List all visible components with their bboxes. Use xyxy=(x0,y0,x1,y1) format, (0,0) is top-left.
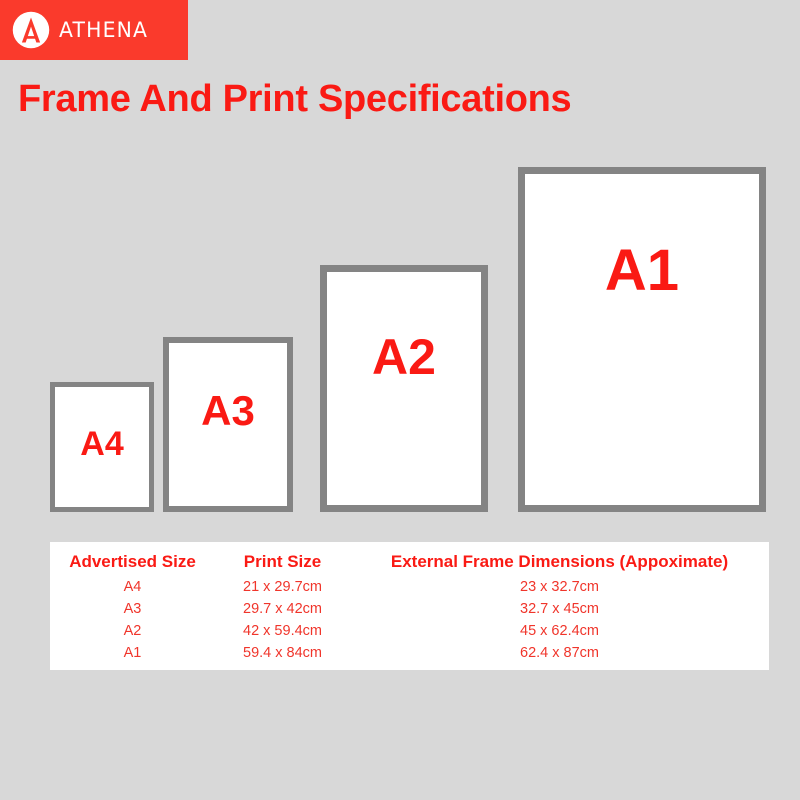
frame-a1: A1 xyxy=(518,167,766,512)
cell-advertised-size: A4 xyxy=(50,576,215,598)
table-row: A1 59.4 x 84cm 62.4 x 87cm xyxy=(50,642,769,664)
table-header-row: Advertised Size Print Size External Fram… xyxy=(50,542,769,576)
cell-external-dimensions: 45 x 62.4cm xyxy=(350,620,769,642)
cell-advertised-size: A1 xyxy=(50,642,215,664)
column-header-print-size: Print Size xyxy=(215,542,350,576)
table-header: Advertised Size Print Size External Fram… xyxy=(50,542,769,576)
cell-advertised-size: A3 xyxy=(50,598,215,620)
table-row: A4 21 x 29.7cm 23 x 32.7cm xyxy=(50,576,769,598)
table-row: A2 42 x 59.4cm 45 x 62.4cm xyxy=(50,620,769,642)
specifications-table-grid: Advertised Size Print Size External Fram… xyxy=(50,542,769,664)
frame-a4: A4 xyxy=(50,382,154,512)
cell-external-dimensions: 23 x 32.7cm xyxy=(350,576,769,598)
cell-advertised-size: A2 xyxy=(50,620,215,642)
frame-a2: A2 xyxy=(320,265,488,512)
cell-external-dimensions: 32.7 x 45cm xyxy=(350,598,769,620)
frame-a4-label: A4 xyxy=(80,427,123,461)
frame-a2-label: A2 xyxy=(372,332,436,382)
column-header-external-frame-dimensions: External Frame Dimensions (Appoximate) xyxy=(350,542,769,576)
table-row: A3 29.7 x 42cm 32.7 x 45cm xyxy=(50,598,769,620)
frame-a3: A3 xyxy=(163,337,293,512)
cell-print-size: 21 x 29.7cm xyxy=(215,576,350,598)
frame-size-diagram: A4 A3 A2 A1 xyxy=(0,0,800,540)
specifications-table: Advertised Size Print Size External Fram… xyxy=(50,542,769,670)
column-header-advertised-size: Advertised Size xyxy=(50,542,215,576)
cell-external-dimensions: 62.4 x 87cm xyxy=(350,642,769,664)
cell-print-size: 42 x 59.4cm xyxy=(215,620,350,642)
frame-a1-label: A1 xyxy=(605,242,679,300)
cell-print-size: 29.7 x 42cm xyxy=(215,598,350,620)
cell-print-size: 59.4 x 84cm xyxy=(215,642,350,664)
frame-a3-label: A3 xyxy=(201,390,255,432)
table-body: A4 21 x 29.7cm 23 x 32.7cm A3 29.7 x 42c… xyxy=(50,576,769,664)
